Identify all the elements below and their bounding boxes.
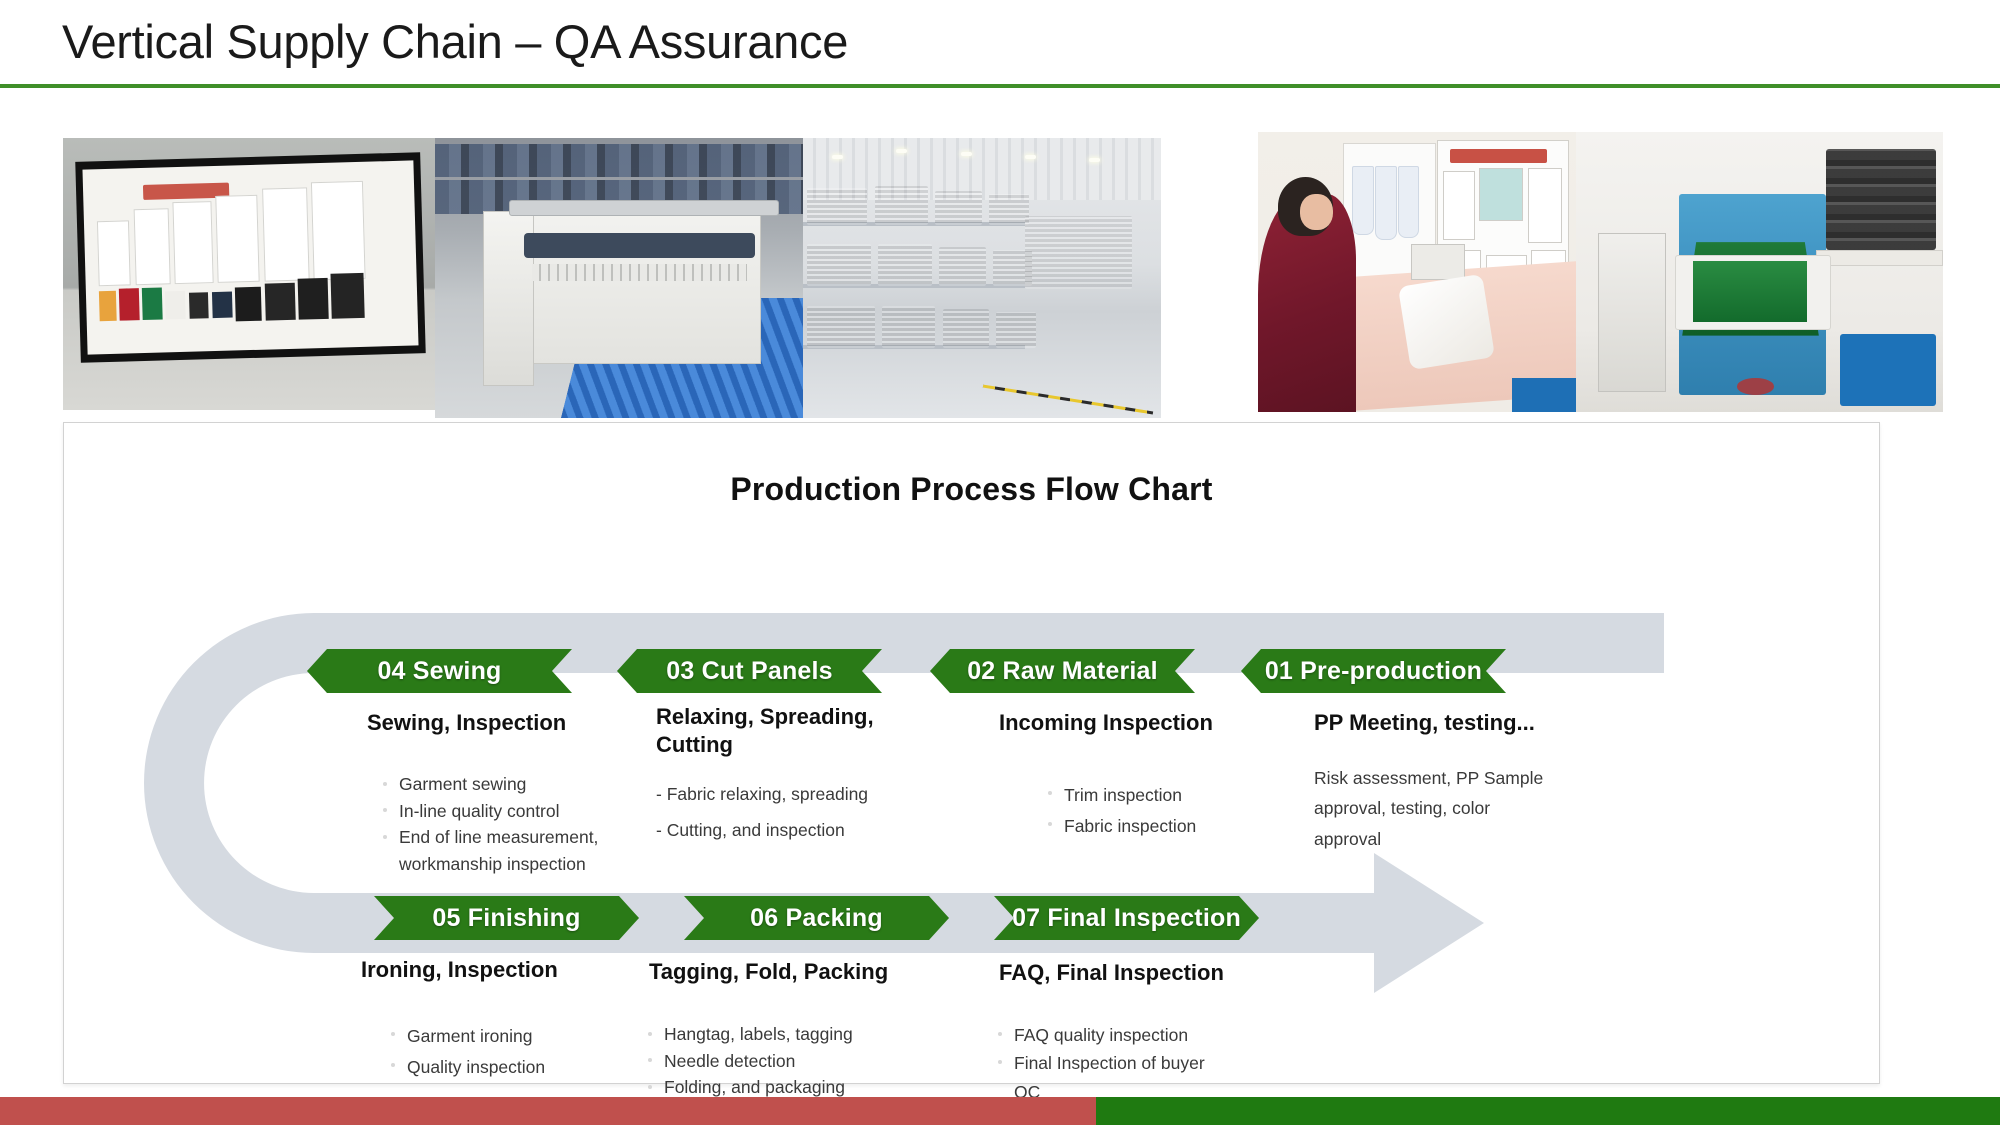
footer-red-segment [0, 1097, 1096, 1125]
step-01-pre-production-chevron[interactable]: 01 Pre-production [1241, 649, 1506, 693]
qc-operator-face [1300, 194, 1333, 230]
step-03-heading: Relaxing, Spreading, Cutting [656, 703, 906, 758]
step-01-items: Risk assessment, PP Sample approval, tes… [1314, 763, 1564, 854]
footer-green-segment [1096, 1097, 2000, 1125]
step-07-label: 07 Final Inspection [1012, 904, 1241, 933]
step-02-raw-material-chevron[interactable]: 02 Raw Material [930, 649, 1195, 693]
flow-graphics: 04 Sewing Sewing, Inspection Garment sew… [64, 423, 1879, 1083]
garment-sample-on-table [1398, 274, 1495, 370]
flow-chart-panel: Production Process Flow Chart 04 Sewing … [63, 422, 1880, 1084]
notice-board-surface [82, 160, 418, 354]
machine-perforated-panel [532, 264, 748, 281]
step-03-cut-panels-chevron[interactable]: 03 Cut Panels [617, 649, 882, 693]
step-03-label: 03 Cut Panels [666, 657, 833, 686]
step-02-items: Trim inspection Fabric inspection [1064, 780, 1314, 842]
step-05-heading: Ironing, Inspection [361, 956, 641, 984]
step-05-label: 05 Finishing [432, 904, 580, 933]
photo-quality-standards-notice-board [63, 138, 438, 410]
step-07-items: FAQ quality inspection Final Inspection … [1014, 1021, 1294, 1106]
step-07-final-inspection-chevron[interactable]: 07 Final Inspection [994, 896, 1259, 940]
notice-board-frame [75, 152, 425, 363]
page-title: Vertical Supply Chain – QA Assurance [62, 14, 848, 69]
list-item: - Cutting, and inspection [656, 817, 921, 844]
weighing-scale [1411, 244, 1465, 280]
photo-cut-panel-storage-racks [803, 138, 1161, 418]
blue-bin [1512, 378, 1584, 412]
list-item: Fabric inspection [1064, 811, 1314, 842]
machine-top-rail [509, 200, 779, 216]
list-item: End of line measurement, [399, 824, 659, 851]
packed-garment-bags [1826, 149, 1936, 250]
process-direction-arrow [64, 423, 1879, 1083]
list-item: approval, testing, color [1314, 793, 1564, 823]
list-item: Garment sewing [399, 771, 659, 798]
step-05-items: Garment ironing Quality inspection [407, 1021, 657, 1083]
list-item: Quality inspection [407, 1052, 657, 1083]
photo-incoming-inspection-operator [1258, 132, 1583, 412]
packing-table [1816, 250, 1943, 266]
step-01-label: 01 Pre-production [1265, 657, 1482, 686]
list-item: FAQ quality inspection [1014, 1021, 1294, 1049]
footer-bar [0, 1097, 2000, 1125]
board-red-title [1450, 149, 1548, 163]
step-05-finishing-chevron[interactable]: 05 Finishing [374, 896, 639, 940]
list-item: In-line quality control [399, 798, 659, 825]
list-item: approval [1314, 824, 1564, 854]
step-07-heading: FAQ, Final Inspection [999, 959, 1299, 987]
conveyor-belt-front [1693, 261, 1807, 323]
step-06-heading: Tagging, Fold, Packing [649, 958, 949, 986]
photo-strip [63, 138, 1943, 418]
step-06-label: 06 Packing [750, 904, 883, 933]
step-04-label: 04 Sewing [377, 657, 501, 686]
list-item: Risk assessment, PP Sample [1314, 763, 1564, 793]
background-fabric-racks [435, 144, 807, 178]
step-01-heading: PP Meeting, testing... [1314, 709, 1594, 737]
fabric-roll [524, 233, 755, 258]
step-03-items: - Fabric relaxing, spreading - Cutting, … [656, 781, 921, 843]
list-item: Hangtag, labels, tagging [664, 1021, 934, 1048]
list-item: Final Inspection of buyer [1014, 1049, 1294, 1077]
step-04-heading: Sewing, Inspection [367, 709, 637, 737]
step-02-label: 02 Raw Material [967, 657, 1158, 686]
step-06-packing-chevron[interactable]: 06 Packing [684, 896, 949, 940]
list-item: workmanship inspection [399, 851, 659, 878]
step-04-sewing-chevron[interactable]: 04 Sewing [307, 649, 572, 693]
list-item: Garment ironing [407, 1021, 657, 1052]
list-item: - Fabric relaxing, spreading [656, 781, 921, 808]
list-item: Trim inspection [1064, 780, 1314, 811]
photo-fabric-spreading-machine [435, 138, 807, 418]
step-06-items: Hangtag, labels, tagging Needle detectio… [664, 1021, 934, 1101]
white-cabinet [1598, 233, 1666, 392]
step-04-items: Garment sewing In-line quality control E… [399, 771, 659, 877]
title-underline-rule [0, 84, 2000, 88]
step-02-heading: Incoming Inspection [999, 709, 1269, 737]
blue-storage-bin [1840, 334, 1935, 407]
list-item: Needle detection [664, 1048, 934, 1075]
photo-needle-detector-machine [1576, 132, 1943, 412]
